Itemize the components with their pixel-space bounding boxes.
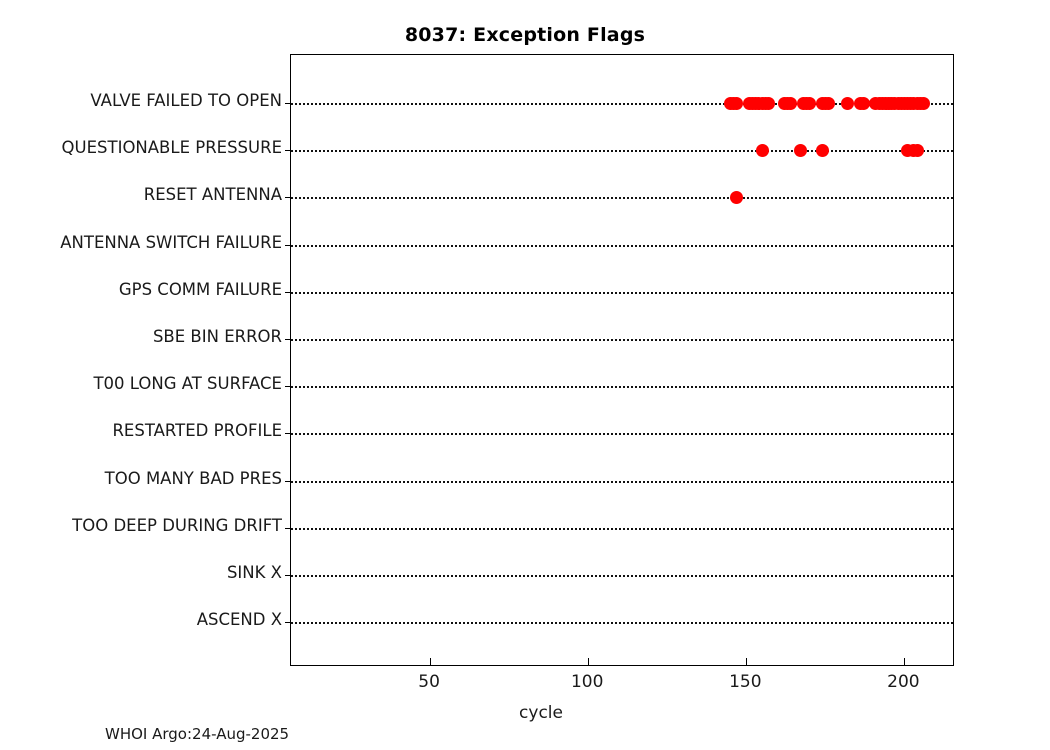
data-point-marker: [816, 144, 829, 157]
y-axis-label: SBE BIN ERROR: [0, 327, 282, 346]
data-point-marker: [756, 144, 769, 157]
data-point-marker: [841, 97, 854, 110]
category-gridline: [291, 292, 953, 294]
y-axis-label: TOO MANY BAD PRES: [0, 469, 282, 488]
y-axis-tick: [285, 197, 291, 198]
category-gridline: [291, 622, 953, 624]
y-axis-tick: [285, 245, 291, 246]
x-axis-title-wrap: cycle: [0, 703, 1050, 723]
data-point-marker: [857, 97, 870, 110]
chart-title: 8037: Exception Flags: [0, 24, 1050, 46]
data-point-marker: [794, 144, 807, 157]
x-axis-tick: [746, 658, 747, 665]
y-axis-tick: [285, 481, 291, 482]
data-point-marker: [730, 97, 743, 110]
plot-area: [290, 54, 954, 666]
y-axis-tick: [285, 103, 291, 104]
y-axis-label: RESET ANTENNA: [0, 185, 282, 204]
data-point-marker: [822, 97, 835, 110]
y-axis-tick: [285, 386, 291, 387]
x-axis-tick-label: 50: [389, 672, 469, 692]
data-point-marker: [730, 191, 743, 204]
footer-note: WHOI Argo:24-Aug-2025: [105, 725, 289, 743]
x-axis-tick-label: 150: [705, 672, 785, 692]
x-axis-tick: [588, 658, 589, 665]
y-axis-label: ASCEND X: [0, 610, 282, 629]
category-gridline: [291, 197, 953, 199]
y-axis-label: GPS COMM FAILURE: [0, 280, 282, 299]
y-axis-tick: [285, 528, 291, 529]
y-axis-label: T00 LONG AT SURFACE: [0, 374, 282, 393]
y-axis-label: SINK X: [0, 563, 282, 582]
figure-canvas: 8037: Exception Flags VALVE FAILED TO OP…: [0, 0, 1050, 750]
y-axis-tick: [285, 339, 291, 340]
data-point-marker: [784, 97, 797, 110]
category-gridline: [291, 433, 953, 435]
y-axis-label: TOO DEEP DURING DRIFT: [0, 516, 282, 535]
x-axis-tick-label: 100: [547, 672, 627, 692]
category-gridline: [291, 575, 953, 577]
category-gridline: [291, 150, 953, 152]
category-gridline: [291, 528, 953, 530]
x-axis-title: cycle: [519, 703, 563, 723]
y-axis-label: VALVE FAILED TO OPEN: [0, 91, 282, 110]
x-axis-tick-label: 200: [863, 672, 943, 692]
category-gridline: [291, 245, 953, 247]
data-point-marker: [762, 97, 775, 110]
category-gridline: [291, 386, 953, 388]
category-gridline: [291, 339, 953, 341]
y-axis-label: RESTARTED PROFILE: [0, 421, 282, 440]
x-axis-tick: [904, 658, 905, 665]
data-point-marker: [911, 144, 924, 157]
x-axis-tick: [430, 658, 431, 665]
y-axis-label: ANTENNA SWITCH FAILURE: [0, 233, 282, 252]
y-axis-tick: [285, 292, 291, 293]
data-point-marker: [917, 97, 930, 110]
y-axis-tick: [285, 150, 291, 151]
y-axis-label: QUESTIONABLE PRESSURE: [0, 138, 282, 157]
y-axis-tick: [285, 622, 291, 623]
y-axis-tick: [285, 575, 291, 576]
data-point-marker: [803, 97, 816, 110]
category-gridline: [291, 481, 953, 483]
y-axis-tick: [285, 433, 291, 434]
